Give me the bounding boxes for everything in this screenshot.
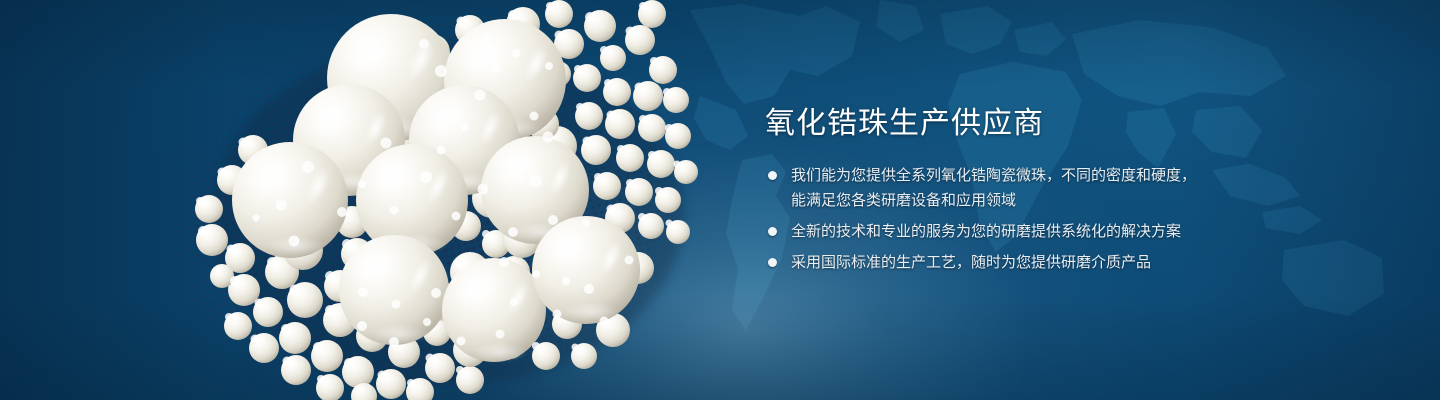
feature-item-1-line-2: 能满足您各类研磨设备和应用领域 [791, 188, 1405, 213]
hero-banner: 氧化锆珠生产供应商 我们能为您提供全系列氧化锆陶瓷微珠，不同的密度和硬度， 能满… [0, 0, 1440, 400]
banner-copy: 氧化锆珠生产供应商 我们能为您提供全系列氧化锆陶瓷微珠，不同的密度和硬度， 能满… [765, 104, 1405, 275]
bullet-dot-icon [768, 227, 777, 236]
bullet-dot-icon [768, 258, 777, 267]
feature-item-1: 我们能为您提供全系列氧化锆陶瓷微珠，不同的密度和硬度， 能满足您各类研磨设备和应… [765, 163, 1405, 213]
feature-item-3: 采用国际标准的生产工艺，随时为您提供研磨介质产品 [765, 250, 1405, 275]
feature-item-2: 全新的技术和专业的服务为您的研磨提供系统化的解决方案 [765, 219, 1405, 244]
feature-list: 我们能为您提供全系列氧化锆陶瓷微珠，不同的密度和硬度， 能满足您各类研磨设备和应… [765, 163, 1405, 275]
feature-item-3-line-1: 采用国际标准的生产工艺，随时为您提供研磨介质产品 [791, 250, 1405, 275]
bullet-dot-icon [768, 171, 777, 180]
banner-headline: 氧化锆珠生产供应商 [765, 104, 1405, 144]
feature-item-2-line-1: 全新的技术和专业的服务为您的研磨提供系统化的解决方案 [791, 219, 1405, 244]
feature-item-1-line-1: 我们能为您提供全系列氧化锆陶瓷微珠，不同的密度和硬度， [791, 163, 1405, 188]
